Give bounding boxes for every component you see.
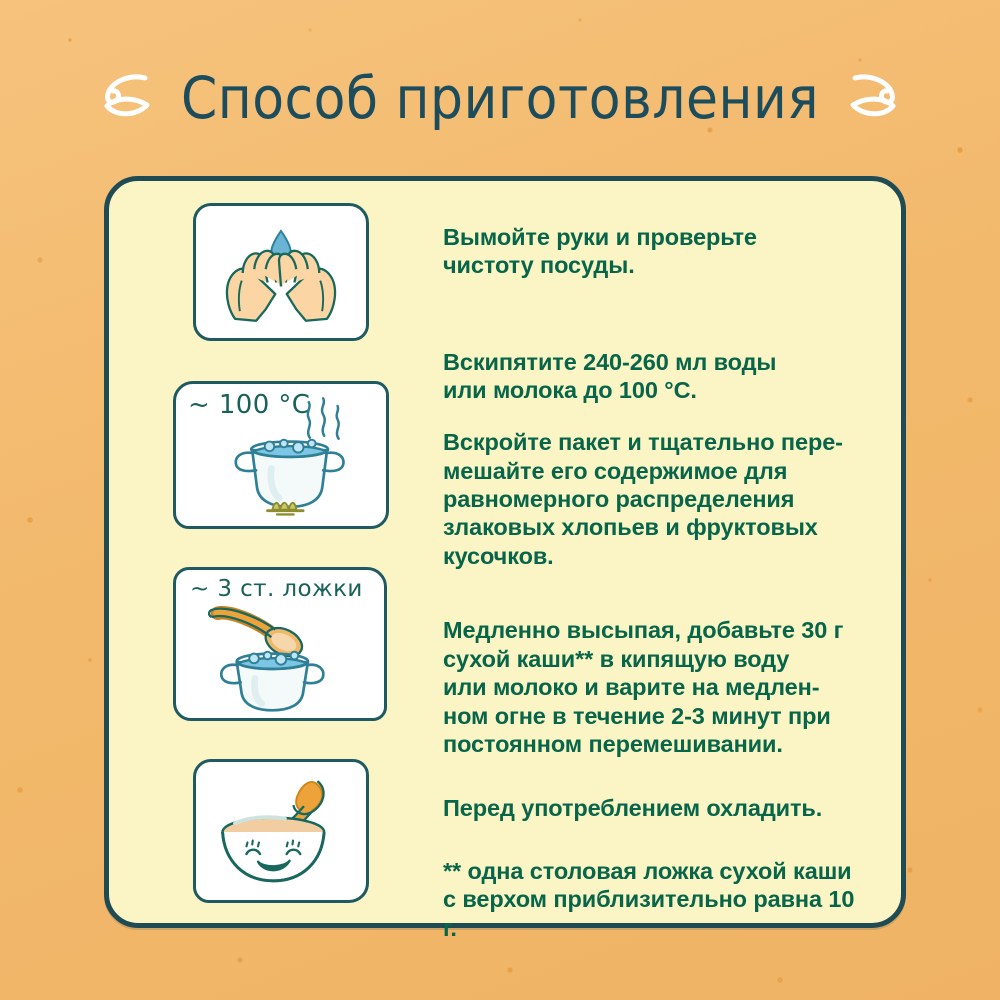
leaf-icon bbox=[99, 68, 159, 131]
boiling-pot-on-flame-icon bbox=[176, 384, 386, 526]
icon-card-serve-bowl bbox=[193, 759, 369, 903]
instruction-step: Вскройте пакет и тщательно пере- мешайте… bbox=[443, 428, 873, 570]
washing-hands-with-droplet-icon bbox=[196, 206, 366, 338]
header: Способ приготовления bbox=[0, 58, 1000, 140]
leaf-icon bbox=[841, 68, 901, 131]
instruction-step: Вымойте руки и проверьте чистоту посуды. bbox=[443, 223, 873, 280]
instruction-step: Перед употреблением охладить. bbox=[443, 794, 873, 822]
spoon-over-boiling-pot-icon bbox=[176, 570, 384, 718]
icon-card-wash-hands bbox=[193, 203, 369, 341]
smiling-porridge-bowl-with-spoon-icon bbox=[196, 762, 366, 900]
instruction-footnote: ** одна столовая ложка сухой каши с верх… bbox=[443, 857, 873, 942]
instruction-step: Вскипятите 240-260 мл воды или молока до… bbox=[443, 348, 873, 405]
page-title: Способ приготовления bbox=[181, 70, 819, 128]
instruction-steps: Вымойте руки и проверьте чистоту посуды.… bbox=[443, 223, 873, 966]
icon-card-boil-water: ~ 100 °C bbox=[173, 381, 389, 529]
instruction-step: Медленно высыпая, добавьте 30 г сухой ка… bbox=[443, 616, 873, 758]
icon-card-add-spoons: ~ 3 ст. ложки bbox=[173, 567, 387, 721]
instructions-panel: ~ 100 °C bbox=[104, 176, 906, 928]
